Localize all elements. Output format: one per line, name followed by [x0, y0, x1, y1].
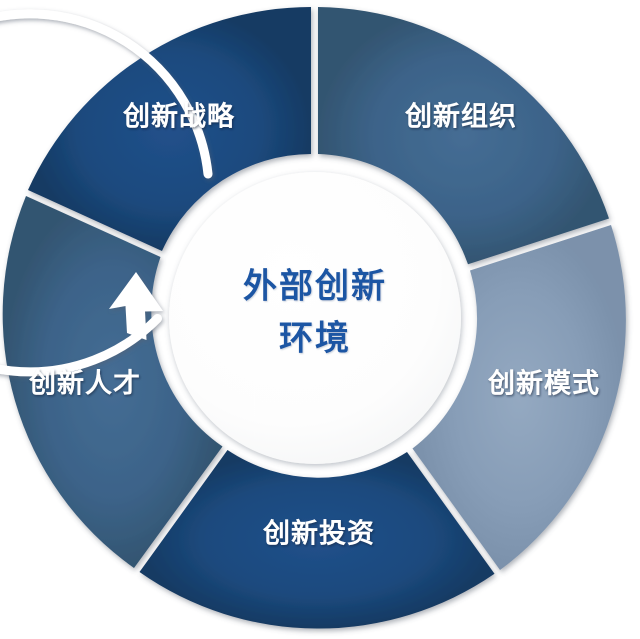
- segment-label-innovation-strategy: 创新战略: [122, 101, 235, 133]
- innovation-cycle-diagram: 创新战略 创新组织 创新模式 创新投资 创新人才 外部创新 环境: [0, 0, 640, 639]
- center-label-line2: 环境: [279, 319, 351, 359]
- segment-label-innovation-model: 创新模式: [487, 368, 600, 400]
- segment-label-innovation-organization: 创新组织: [404, 101, 517, 133]
- segment-label-innovation-talent: 创新人才: [28, 368, 141, 400]
- cycle-wheel-svg: 创新战略 创新组织 创新模式 创新投资 创新人才 外部创新 环境: [0, 0, 640, 639]
- center-label-line1: 外部创新: [243, 267, 387, 307]
- segment-label-innovation-investment: 创新投资: [262, 518, 375, 550]
